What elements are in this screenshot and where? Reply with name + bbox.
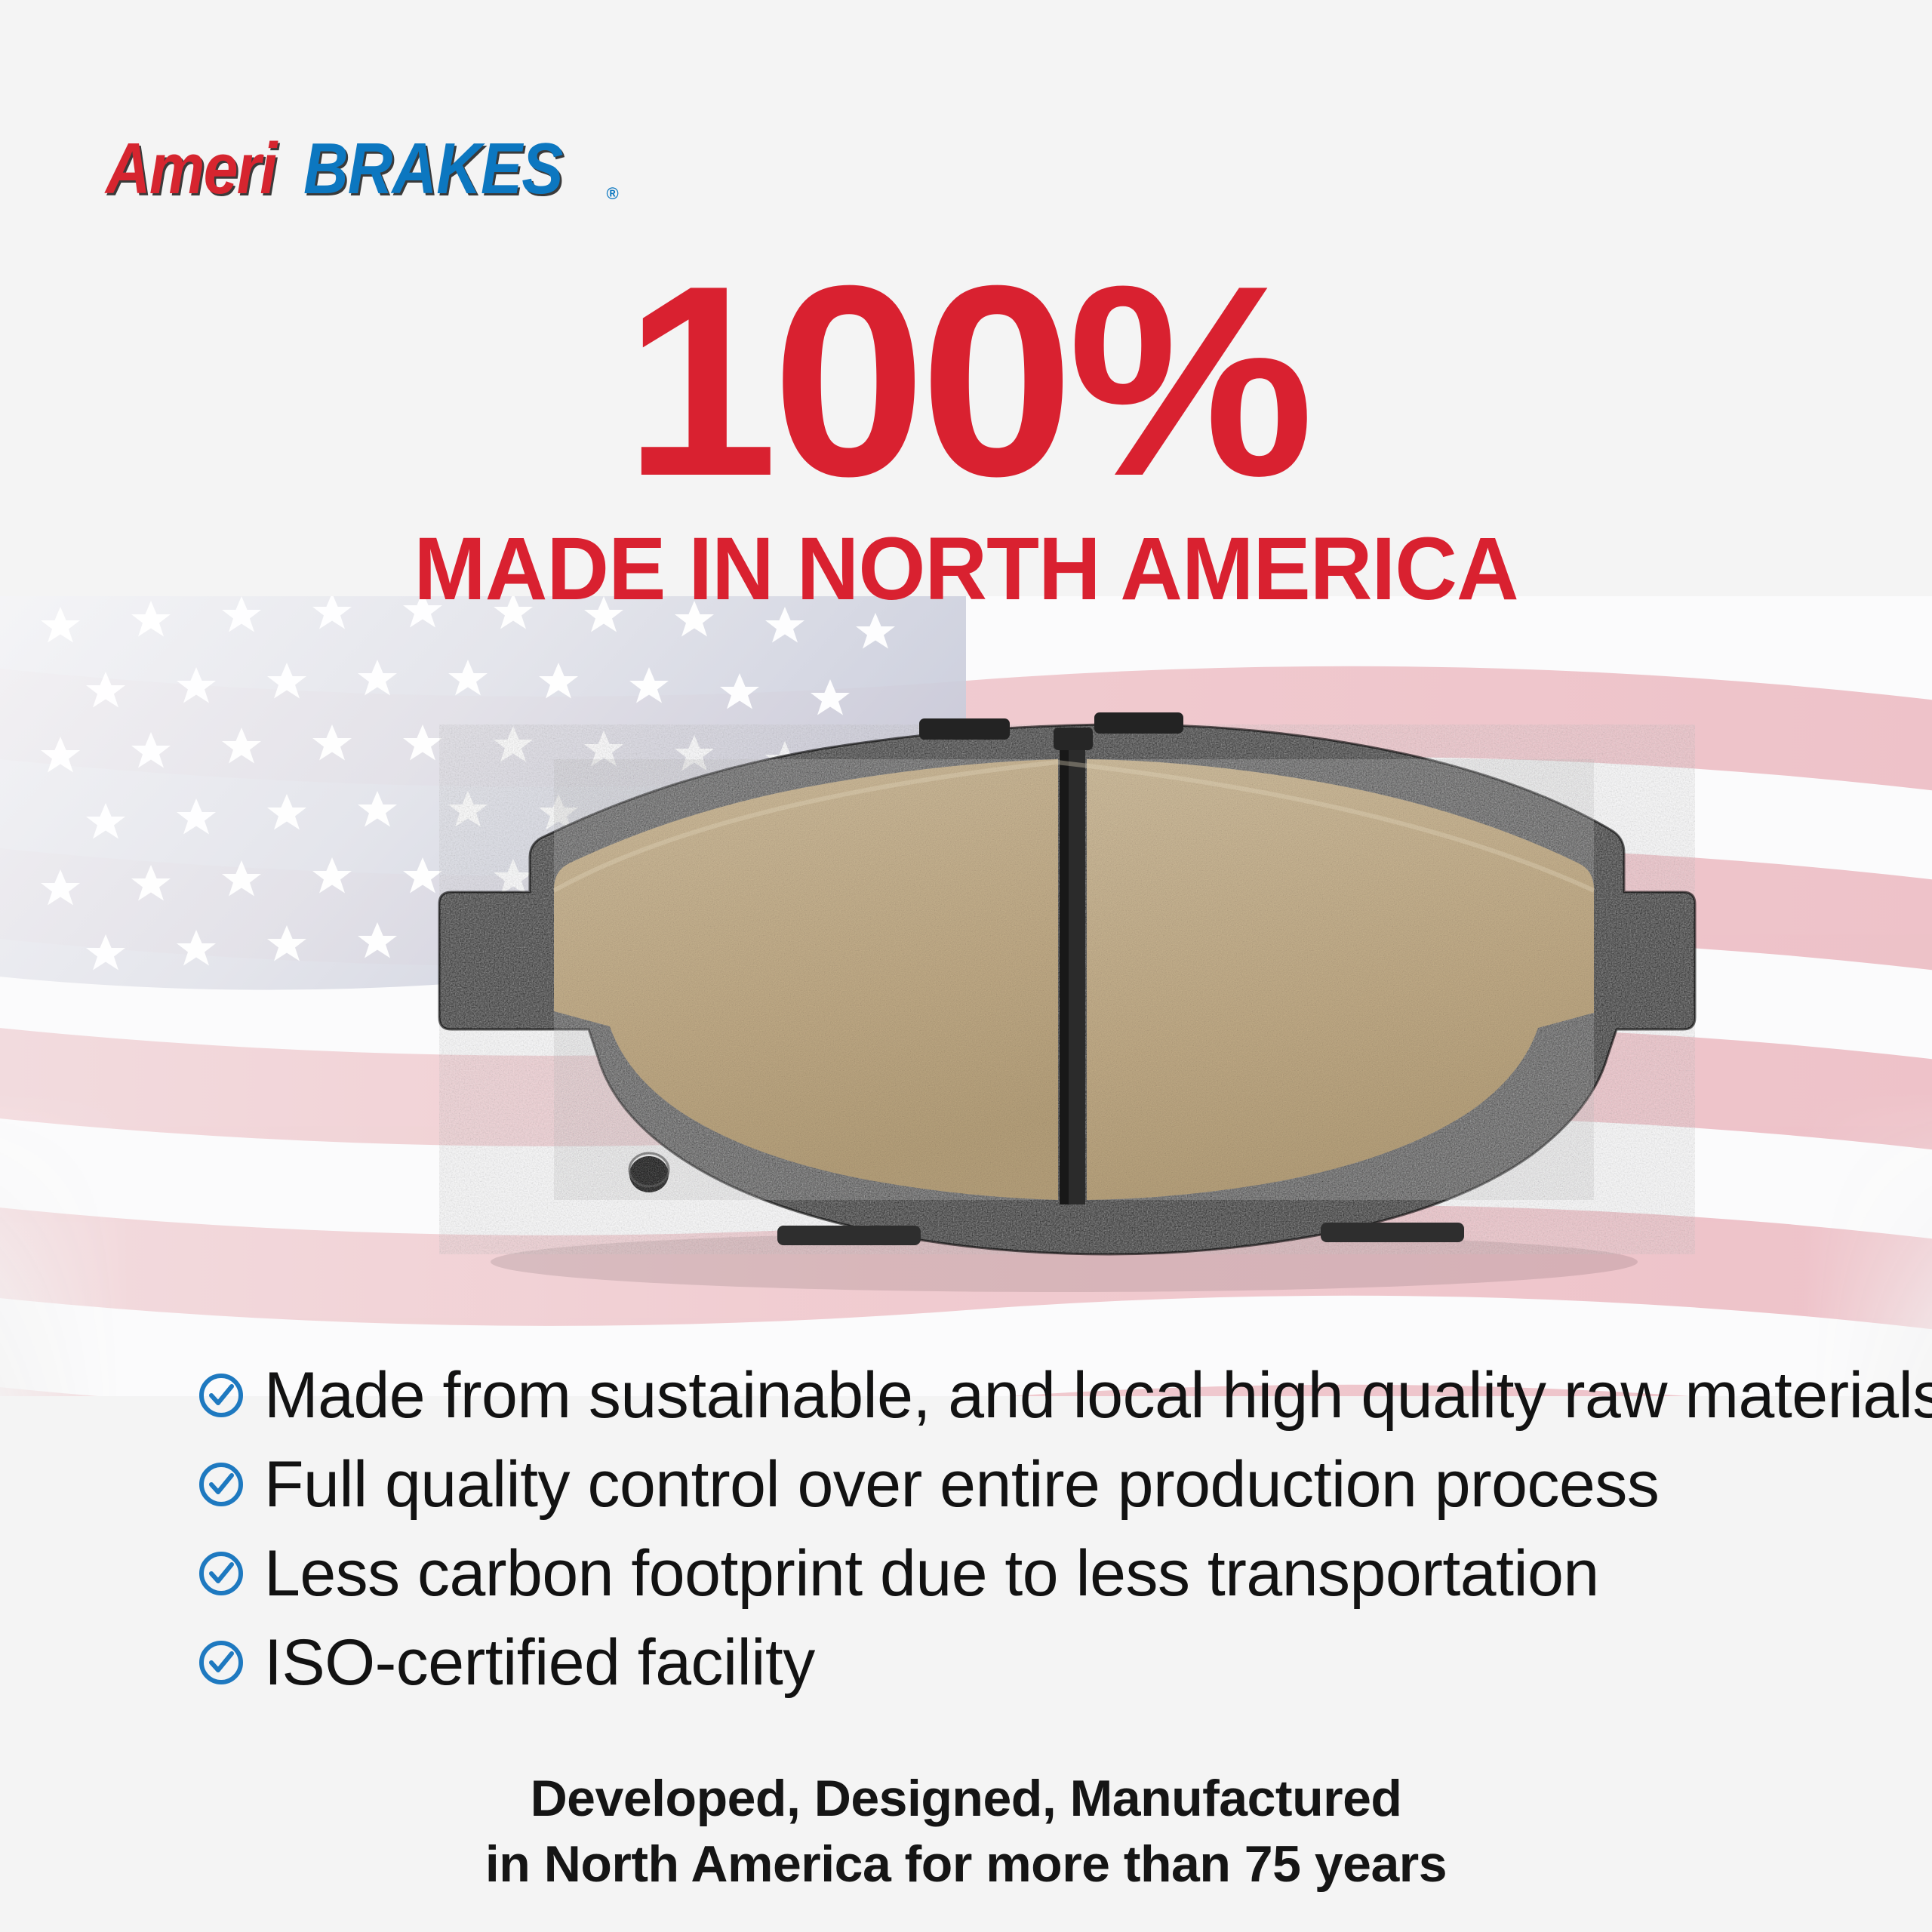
list-item: Full quality control over entire product… — [198, 1440, 1783, 1529]
feature-label: ISO-certified facility — [264, 1630, 815, 1695]
list-item: Made from sustainable, and local high qu… — [198, 1351, 1783, 1440]
feature-label: Made from sustainable, and local high qu… — [264, 1363, 1932, 1428]
brand-logo: Ameri BRAKES ® — [106, 133, 619, 205]
registered-trademark-icon: ® — [606, 186, 618, 205]
feature-list: Made from sustainable, and local high qu… — [198, 1351, 1783, 1707]
footer-block: Developed, Designed, Manufactured in Nor… — [0, 1766, 1932, 1897]
feature-label: Full quality control over entire product… — [264, 1452, 1659, 1517]
logo-text-brakes: BRAKES — [303, 133, 562, 205]
brake-pad-product-image — [249, 702, 1706, 1298]
list-item: Less carbon footprint due to less transp… — [198, 1529, 1783, 1618]
check-circle-icon — [198, 1461, 245, 1508]
feature-label: Less carbon footprint due to less transp… — [264, 1541, 1599, 1606]
headline-percent: 100% — [0, 257, 1932, 506]
logo-text-ameri: Ameri — [106, 133, 275, 205]
footer-line-1: Developed, Designed, Manufactured — [0, 1766, 1932, 1832]
check-circle-icon — [198, 1639, 245, 1686]
check-circle-icon — [198, 1550, 245, 1597]
list-item: ISO-certified facility — [198, 1618, 1783, 1707]
promotional-banner: Ameri BRAKES ® 100% MADE IN NORTH AMERIC… — [0, 0, 1932, 1932]
check-circle-icon — [198, 1372, 245, 1419]
headline-subtitle: MADE IN NORTH AMERICA — [29, 525, 1903, 614]
headline-block: 100% MADE IN NORTH AMERICA — [0, 257, 1932, 614]
footer-line-2: in North America for more than 75 years — [0, 1832, 1932, 1897]
